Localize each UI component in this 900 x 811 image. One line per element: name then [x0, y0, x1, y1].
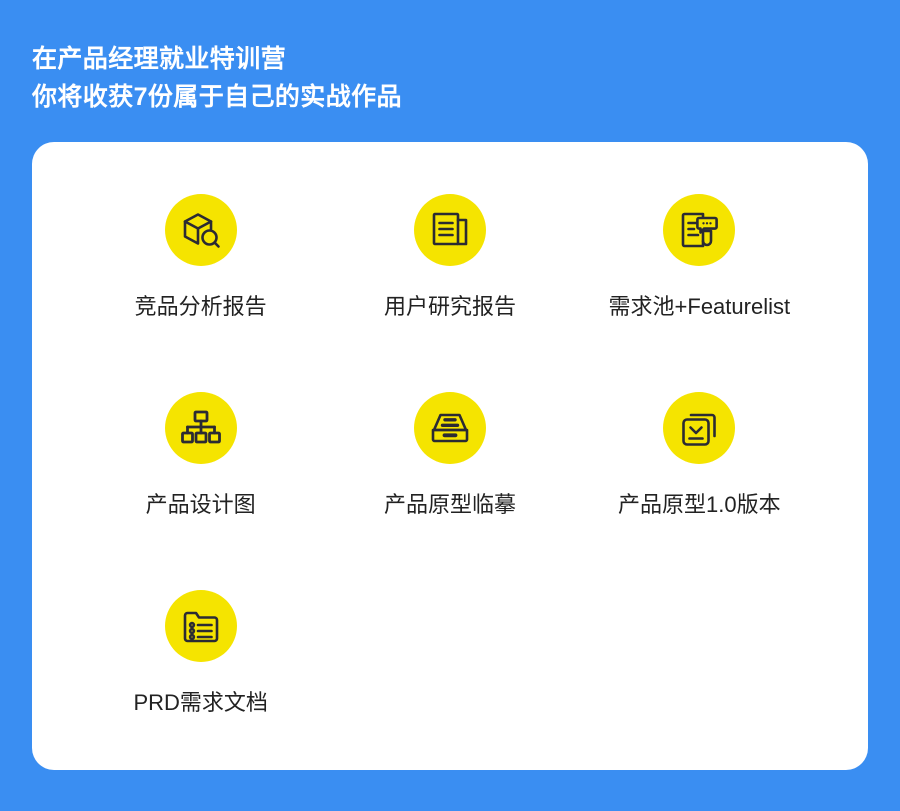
deliverable-badge [414, 392, 486, 464]
deliverable-item: 用户研究报告 [325, 194, 574, 392]
deliverable-badge [165, 392, 237, 464]
deliverables-grid: 竞品分析报告 用户研究报告 [32, 142, 868, 788]
deliverable-badge [663, 392, 735, 464]
deliverable-label: 产品原型1.0版本 [618, 490, 781, 520]
deliverable-label: 竞品分析报告 [135, 292, 267, 322]
document-chat-icon [678, 209, 720, 251]
deliverable-badge [414, 194, 486, 266]
box-search-icon [179, 208, 223, 252]
deliverable-item: 产品设计图 [76, 392, 325, 590]
deliverable-badge [165, 194, 237, 266]
deliverable-label: 用户研究报告 [384, 292, 516, 322]
page-title: 在产品经理就业特训营 你将收获7份属于自己的实战作品 [32, 40, 852, 116]
promo-page: 在产品经理就业特训营 你将收获7份属于自己的实战作品 [0, 0, 900, 811]
deliverable-item: 竞品分析报告 [76, 194, 325, 392]
deliverable-label: 产品设计图 [146, 490, 256, 520]
deliverable-label: PRD需求文档 [133, 688, 267, 718]
deliverable-item: 产品原型临摹 [325, 392, 574, 590]
deliverable-item: PRD需求文档 [76, 590, 325, 788]
deliverable-item: 产品原型1.0版本 [575, 392, 824, 590]
deliverable-label: 需求池+Featurelist [609, 292, 791, 322]
folder-list-icon [180, 605, 222, 647]
deliverables-card: 竞品分析报告 用户研究报告 [32, 142, 868, 770]
tray-drawer-icon [429, 407, 471, 449]
stacked-squares-download-icon [678, 407, 720, 449]
deliverable-item: 需求池+Featurelist [575, 194, 824, 392]
deliverable-badge [663, 194, 735, 266]
deliverable-badge [165, 590, 237, 662]
document-stack-icon [429, 209, 471, 251]
page-title-line-2: 你将收获7份属于自己的实战作品 [32, 78, 852, 116]
deliverable-label: 产品原型临摹 [384, 490, 516, 520]
sitemap-hierarchy-icon [180, 407, 222, 449]
page-title-line-1: 在产品经理就业特训营 [32, 40, 852, 78]
